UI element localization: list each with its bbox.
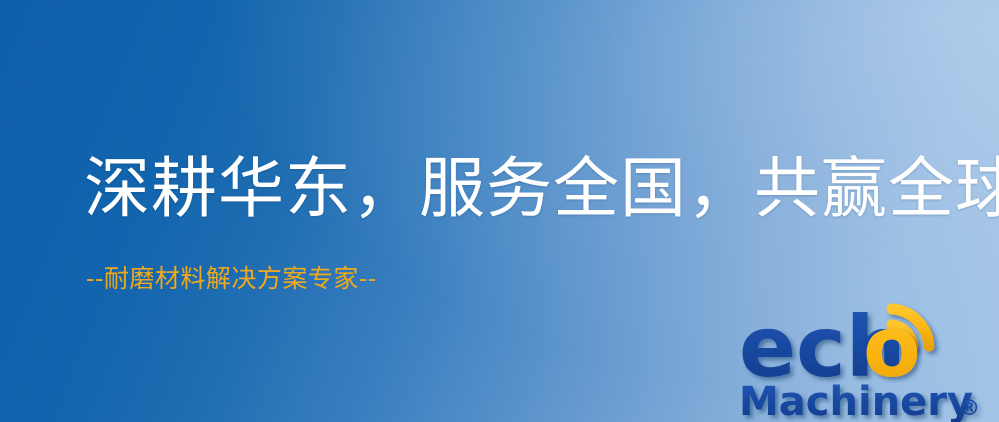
brand-logo[interactable]: ech o Machinery ® <box>737 288 999 422</box>
page-title: 深耕华东，服务全国，共赢全球 <box>84 152 999 226</box>
hero-banner: 深耕华东，服务全国，共赢全球 --耐磨材料解决方案专家-- <box>0 0 999 422</box>
logo-trademark-symbol: ® <box>959 396 980 420</box>
page-subtitle: --耐磨材料解决方案专家-- <box>86 264 377 294</box>
logo-tagline: Machinery <box>739 379 973 422</box>
